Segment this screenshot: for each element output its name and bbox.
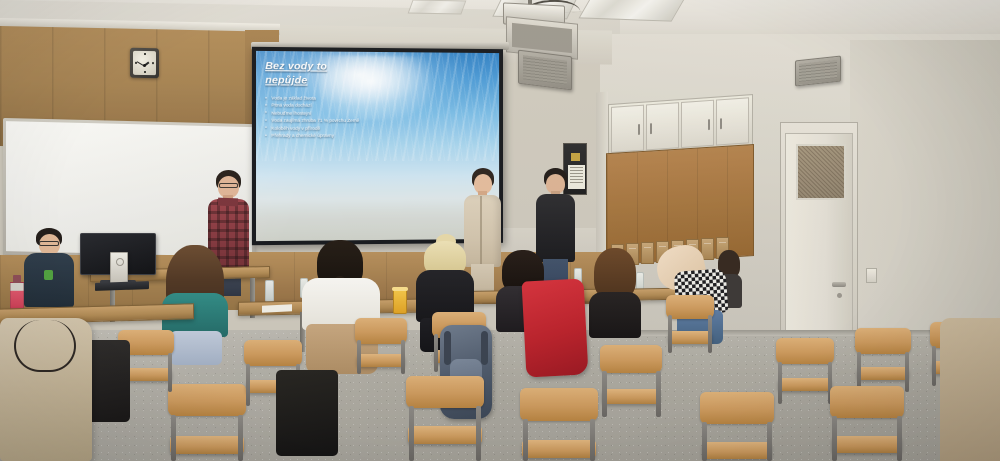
door-window xyxy=(796,144,846,200)
slide-bullet-list: Voda je základ života Pitná voda dochází… xyxy=(265,94,491,139)
chair-frame xyxy=(832,416,837,461)
speaker-grille xyxy=(512,23,572,53)
cup-lid xyxy=(392,287,408,291)
chair-frame xyxy=(767,422,772,461)
yellow-cup xyxy=(393,290,407,314)
chair-frame xyxy=(905,352,909,392)
classroom-chair[interactable] xyxy=(830,386,904,461)
classroom-chair[interactable] xyxy=(700,392,774,461)
bag xyxy=(86,340,130,422)
clock-center xyxy=(143,64,146,67)
classroom-chair[interactable] xyxy=(355,318,407,374)
light-switch[interactable] xyxy=(866,268,877,283)
chair-back xyxy=(855,328,911,354)
chair-back xyxy=(830,386,904,418)
chair-frame xyxy=(602,371,607,417)
cabinet-door[interactable] xyxy=(716,97,749,145)
bag xyxy=(276,370,338,456)
classroom-door[interactable] xyxy=(780,122,858,364)
classroom-chair[interactable] xyxy=(406,376,484,461)
chair-frame xyxy=(702,422,707,461)
chair-back xyxy=(600,345,662,373)
top xyxy=(589,292,641,338)
speaker-grille xyxy=(523,55,567,84)
chair-seat xyxy=(357,354,405,367)
cabinet-door[interactable] xyxy=(681,100,714,148)
chair-frame xyxy=(476,406,481,461)
chair-seat xyxy=(857,367,909,380)
speaker-icon xyxy=(795,56,841,87)
red-jacket xyxy=(522,278,589,377)
chair-seat xyxy=(522,440,596,458)
chair-frame xyxy=(409,406,414,461)
t-shirt xyxy=(24,253,74,307)
power-button-icon[interactable] xyxy=(116,258,124,266)
chair-back xyxy=(700,392,774,424)
chair-frame xyxy=(246,364,250,406)
slide-bullet: Přehrady a chemické úpravny xyxy=(265,132,491,140)
shirt-placket xyxy=(480,196,482,266)
chair-frame xyxy=(357,340,361,374)
slide-content: Bez vody to nepůjde Voda je základ život… xyxy=(265,59,491,139)
chair-back xyxy=(355,318,407,344)
chair-frame xyxy=(401,340,405,374)
chair-frame xyxy=(778,362,782,404)
chair-frame xyxy=(897,416,902,461)
water-bottle xyxy=(265,280,274,302)
chair-frame xyxy=(656,371,661,417)
backpack-strap xyxy=(444,331,451,365)
cabinet-door[interactable] xyxy=(611,105,644,153)
chair-seat xyxy=(170,436,244,454)
cabinet-handle-icon[interactable] xyxy=(638,123,640,134)
chair-back xyxy=(776,338,834,364)
chair-seat xyxy=(602,389,660,404)
chair-back xyxy=(244,340,302,366)
notice-badge xyxy=(571,153,580,161)
chair-frame xyxy=(708,315,712,353)
ceiling-light-panel xyxy=(408,0,467,14)
ceiling-light-panel xyxy=(578,0,686,22)
chair-frame xyxy=(590,419,595,461)
clock-face xyxy=(133,51,156,75)
chair-seat xyxy=(702,442,772,459)
door-lock-icon[interactable] xyxy=(837,293,842,298)
coat-on-chair xyxy=(940,318,1000,461)
chair-seat xyxy=(778,378,832,391)
speaker-icon xyxy=(518,50,572,91)
shirt-collar xyxy=(218,198,238,207)
chair-back xyxy=(168,384,246,416)
chair-frame xyxy=(434,334,438,372)
bottle-cap xyxy=(13,275,21,283)
classroom-chair[interactable] xyxy=(776,338,834,404)
classroom-chair[interactable] xyxy=(168,384,246,461)
chair-frame xyxy=(523,419,528,461)
chair-frame xyxy=(238,415,243,461)
shirt-logo xyxy=(44,270,53,280)
cabinet-handle-icon[interactable] xyxy=(720,118,722,129)
classroom-chair[interactable] xyxy=(666,295,714,353)
wall-clock xyxy=(130,48,159,79)
chair-frame xyxy=(168,353,172,392)
jeans xyxy=(170,331,222,365)
classroom-photo: Bez vody to nepůjde Voda je základ život… xyxy=(0,0,1000,461)
glasses-icon xyxy=(39,241,59,246)
chair-seat xyxy=(408,426,482,444)
slide-title: Bez vody to nepůjde xyxy=(265,59,371,88)
door-leaf[interactable] xyxy=(785,133,853,363)
chair-seat xyxy=(832,436,902,453)
classroom-chair[interactable] xyxy=(600,345,662,417)
seated-student-brown-hair xyxy=(588,248,644,348)
chair-frame xyxy=(668,315,672,353)
bag-strap xyxy=(14,320,76,372)
chair-back xyxy=(406,376,484,408)
cabinet-door[interactable] xyxy=(646,102,679,150)
glasses-icon xyxy=(219,183,238,188)
speaker-grille xyxy=(799,60,837,82)
cabinet-handle-icon[interactable] xyxy=(650,123,652,134)
classroom-chair[interactable] xyxy=(855,328,911,392)
classroom-chair[interactable] xyxy=(520,388,598,461)
seated-student-dark-tee xyxy=(22,228,78,308)
chair-seat xyxy=(668,331,712,344)
cabinet-handle-icon[interactable] xyxy=(708,119,710,130)
chair-back xyxy=(666,295,714,319)
backpack-strap xyxy=(481,331,488,365)
door-handle-icon[interactable] xyxy=(832,282,846,287)
chair-back xyxy=(520,388,598,421)
chair-frame xyxy=(932,346,936,386)
chair-frame xyxy=(171,415,176,461)
